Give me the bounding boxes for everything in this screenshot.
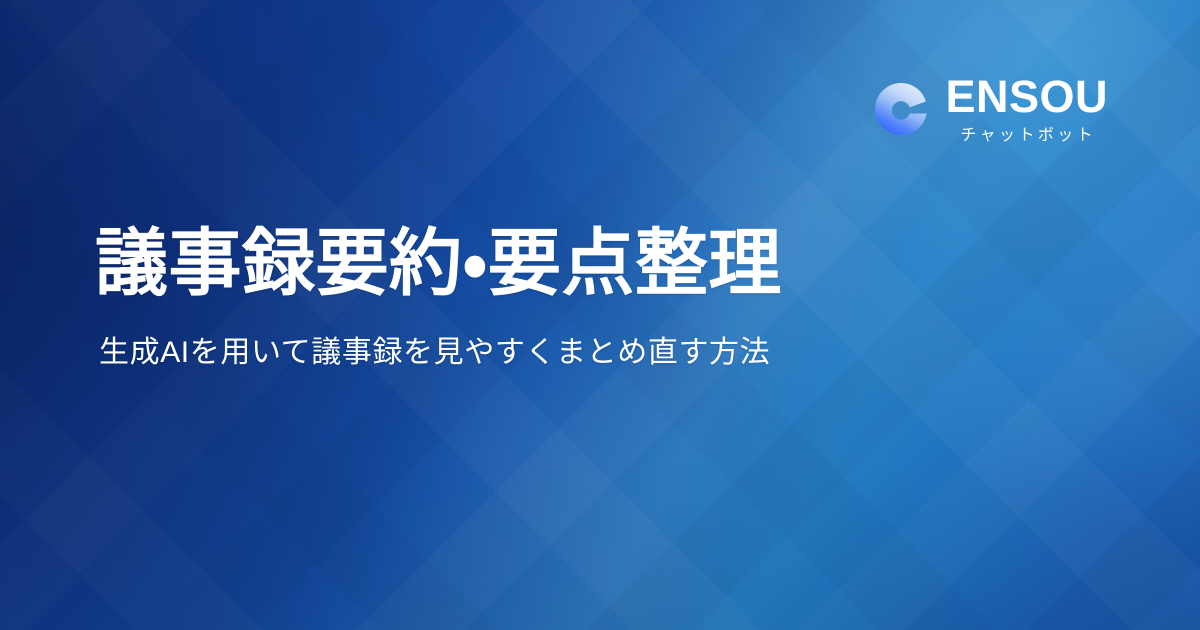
og-card: ENSOU チャットボット 議事録要約・要点整理 生成AIを用いて議事録を見やす… <box>0 0 1200 630</box>
ensou-ring-logo-icon <box>874 82 928 136</box>
page-subtitle: 生成AIを用いて議事録を見やすくまとめ直す方法 <box>99 332 782 374</box>
brand-wordmark: ENSOU <box>945 74 1108 119</box>
headline-block: 議事録要約・要点整理 生成AIを用いて議事録を見やすくまとめ直す方法 <box>95 222 782 374</box>
brand-tagline: チャットボット <box>960 128 1096 144</box>
brand-lockup[interactable]: ENSOU チャットボット <box>874 74 1108 144</box>
brand-text-group: ENSOU チャットボット <box>945 74 1108 144</box>
page-title: 議事録要約・要点整理 <box>95 222 782 307</box>
